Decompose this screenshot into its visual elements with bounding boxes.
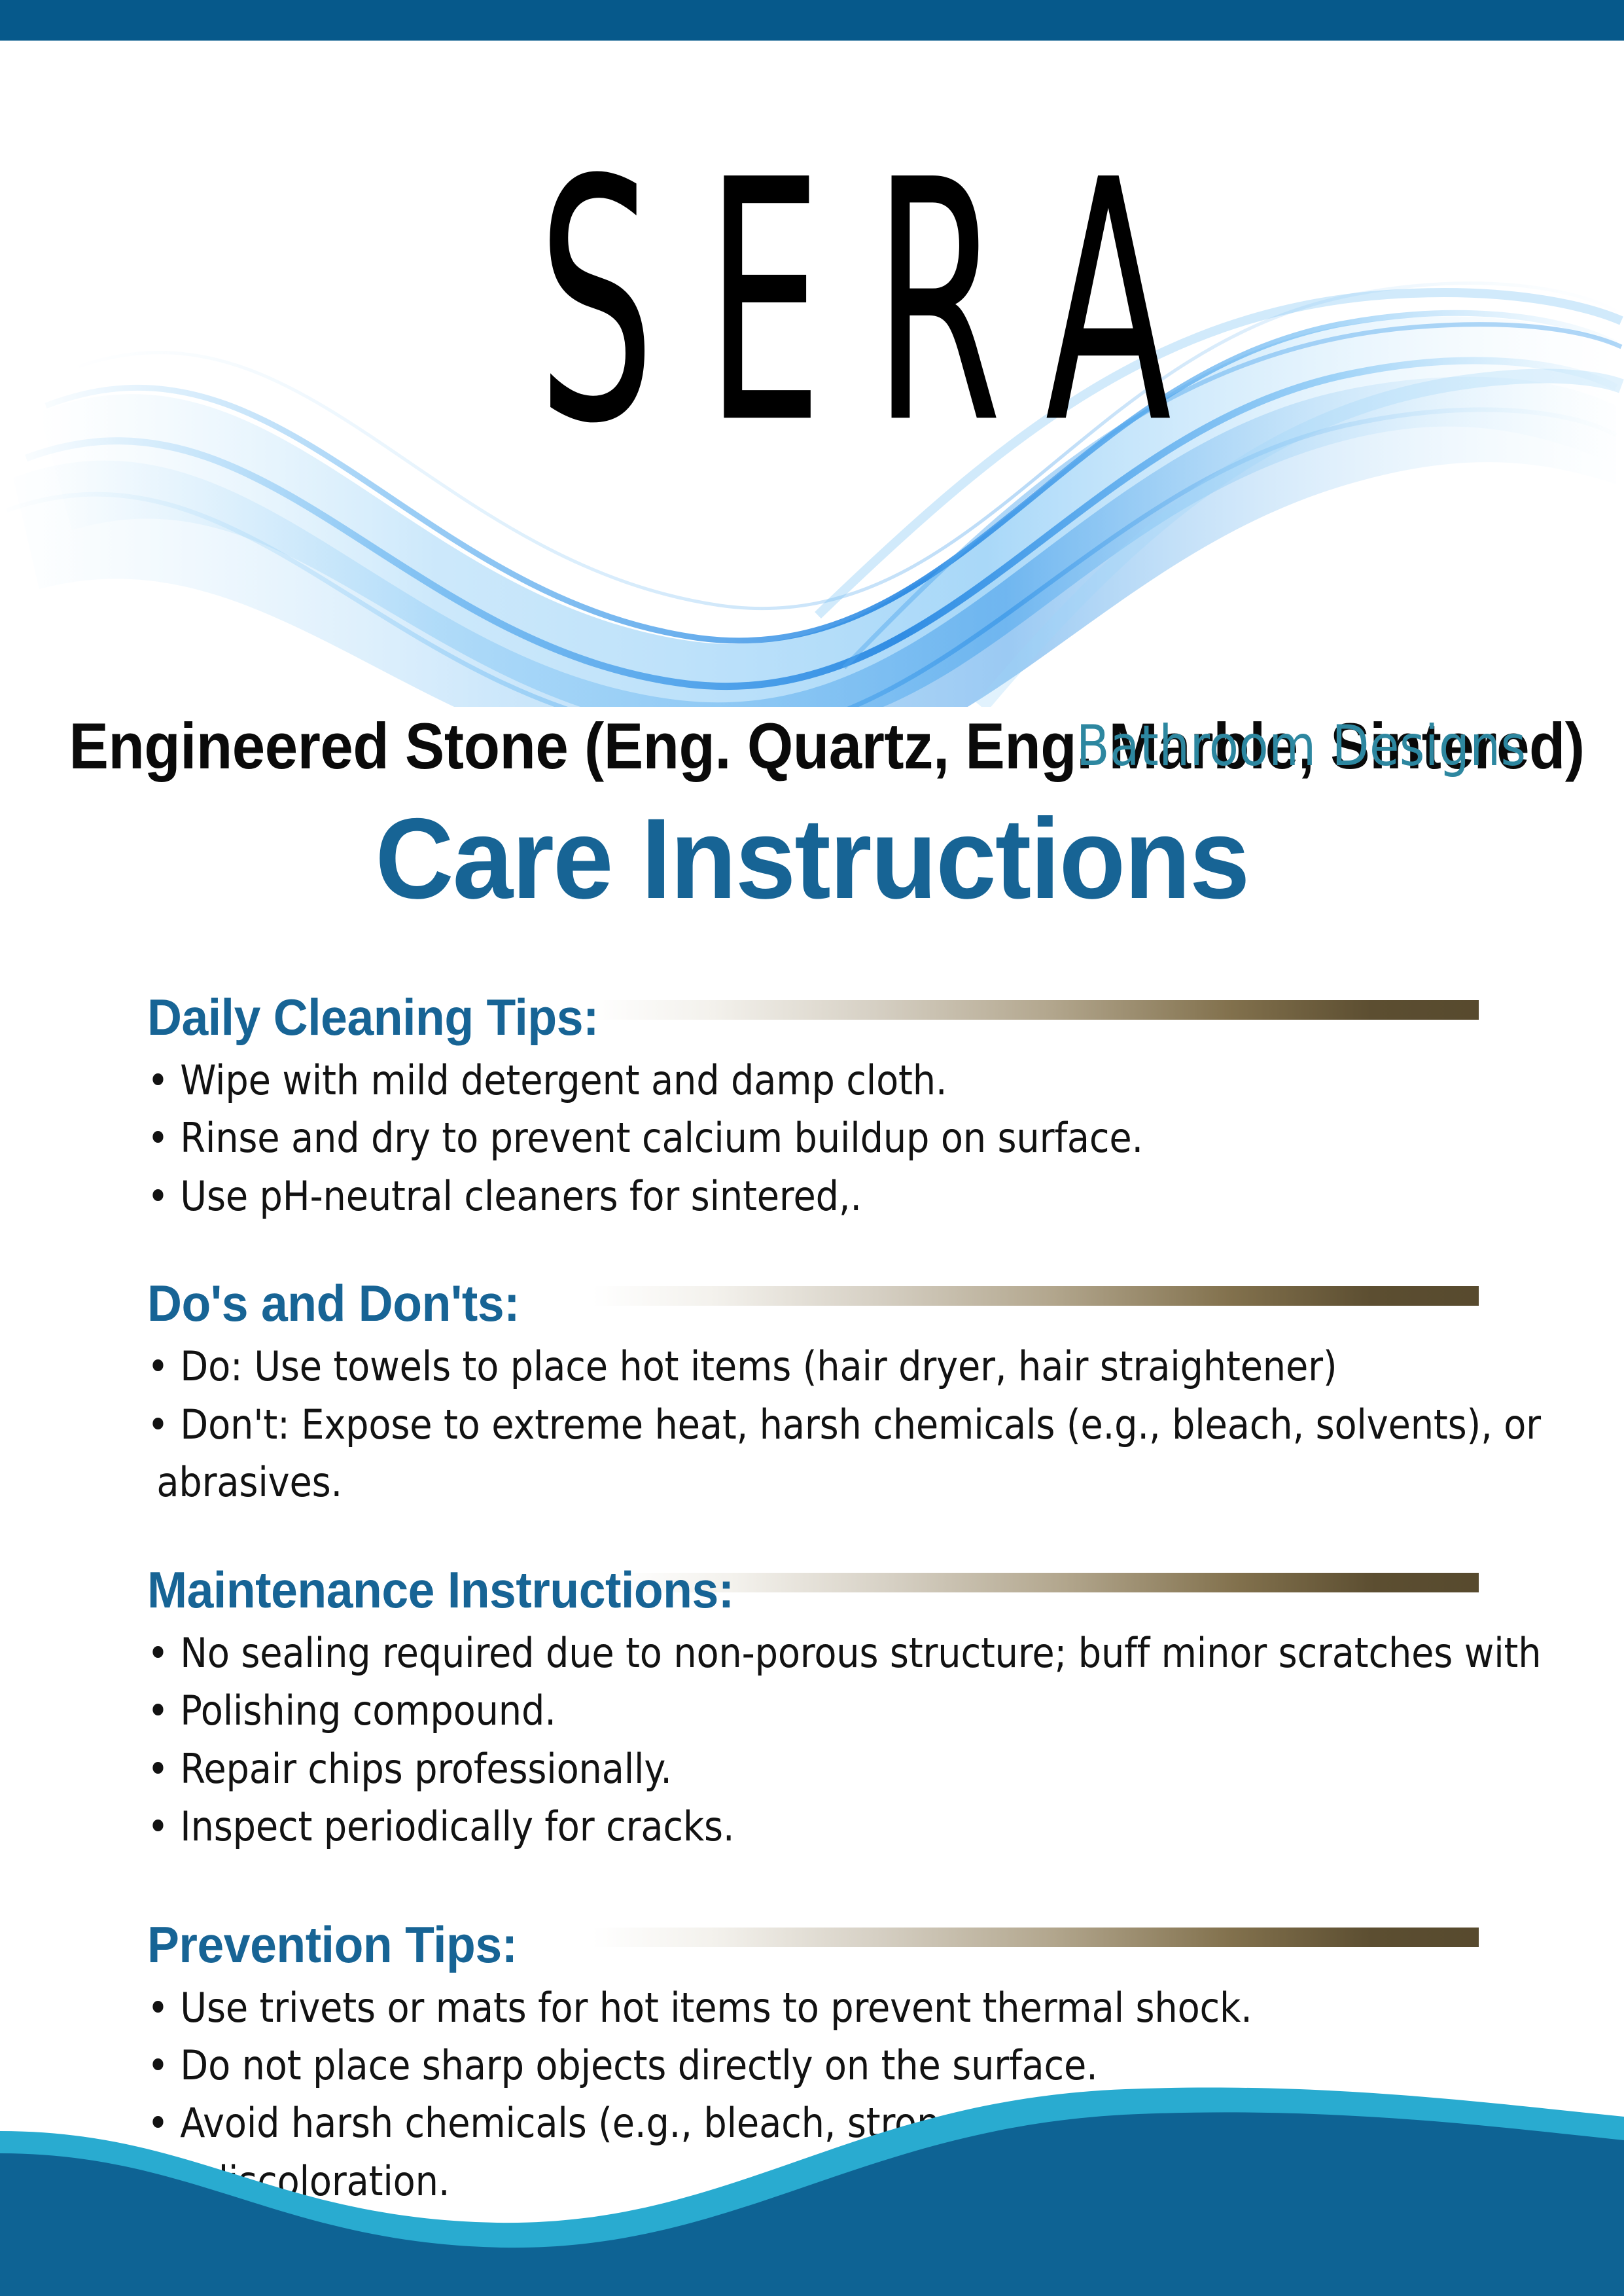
brand-tagline: Bathroom Designs [1076,713,1526,779]
care-instruction-sections: Daily Cleaning Tips: • Wipe with mild de… [147,982,1495,2212]
section-header-row: Prevention Tips: [147,1909,1495,1972]
section-gap [147,1858,1495,1909]
section-divider-rule [615,1573,1479,1592]
list-item: • Use pH-neutral cleaners for sintered,. [147,1170,1360,1223]
brand-logo-block: SERA SERA [0,85,1624,674]
list-item: • Polishing compound. [147,1684,1360,1738]
section-gap [147,1514,1495,1554]
footer-wave-graphic [0,2080,1624,2296]
section-header-row: Daily Cleaning Tips: [147,982,1495,1045]
list-item: • Use trivets or mats for hot items to p… [147,1981,1360,2035]
poster-page: SERA SERA [0,0,1624,2296]
section-maintenance-instructions: Maintenance Instructions: • No sealing r… [147,1554,1495,1854]
bullet-list: • Wipe with mild detergent and damp clot… [147,1054,1495,1223]
section-dos-and-donts: Do's and Don'ts: • Do: Use towels to pla… [147,1268,1495,1509]
top-accent-bar [0,0,1624,41]
sera-wordmark: SERA SERA [249,164,1426,439]
section-divider-rule [589,1000,1479,1020]
section-heading: Do's and Don'ts: [147,1274,520,1333]
list-item: • No sealing required due to non-porous … [147,1626,1360,1680]
list-item: • Rinse and dry to prevent calcium build… [147,1111,1360,1165]
section-heading: Daily Cleaning Tips: [147,988,599,1047]
list-item: • Inspect periodically for cracks. [147,1800,1360,1854]
list-item: • Wipe with mild detergent and damp clot… [147,1054,1360,1107]
bullet-list: • No sealing required due to non-porous … [147,1626,1495,1854]
section-divider-rule [592,1286,1479,1306]
list-item: • Repair chips professionally. [147,1742,1360,1796]
section-heading: Maintenance Instructions: [147,1560,734,1620]
bullet-list: • Do: Use towels to place hot items (hai… [147,1340,1495,1509]
section-header-row: Do's and Don'ts: [147,1268,1495,1331]
section-daily-cleaning-tips: Daily Cleaning Tips: • Wipe with mild de… [147,982,1495,1223]
svg-text:SERA: SERA [538,164,1223,439]
section-divider-rule [592,1928,1479,1947]
list-item: • Don't: Expose to extreme heat, harsh c… [147,1398,1360,1452]
section-gap [147,1227,1495,1268]
list-item-continuation: abrasives. [147,1456,1360,1509]
section-heading: Prevention Tips: [147,1915,518,1975]
list-item: • Do: Use towels to place hot items (hai… [147,1340,1360,1393]
section-header-row: Maintenance Instructions: [147,1554,1495,1617]
poster-title: Care Instructions [41,802,1583,916]
